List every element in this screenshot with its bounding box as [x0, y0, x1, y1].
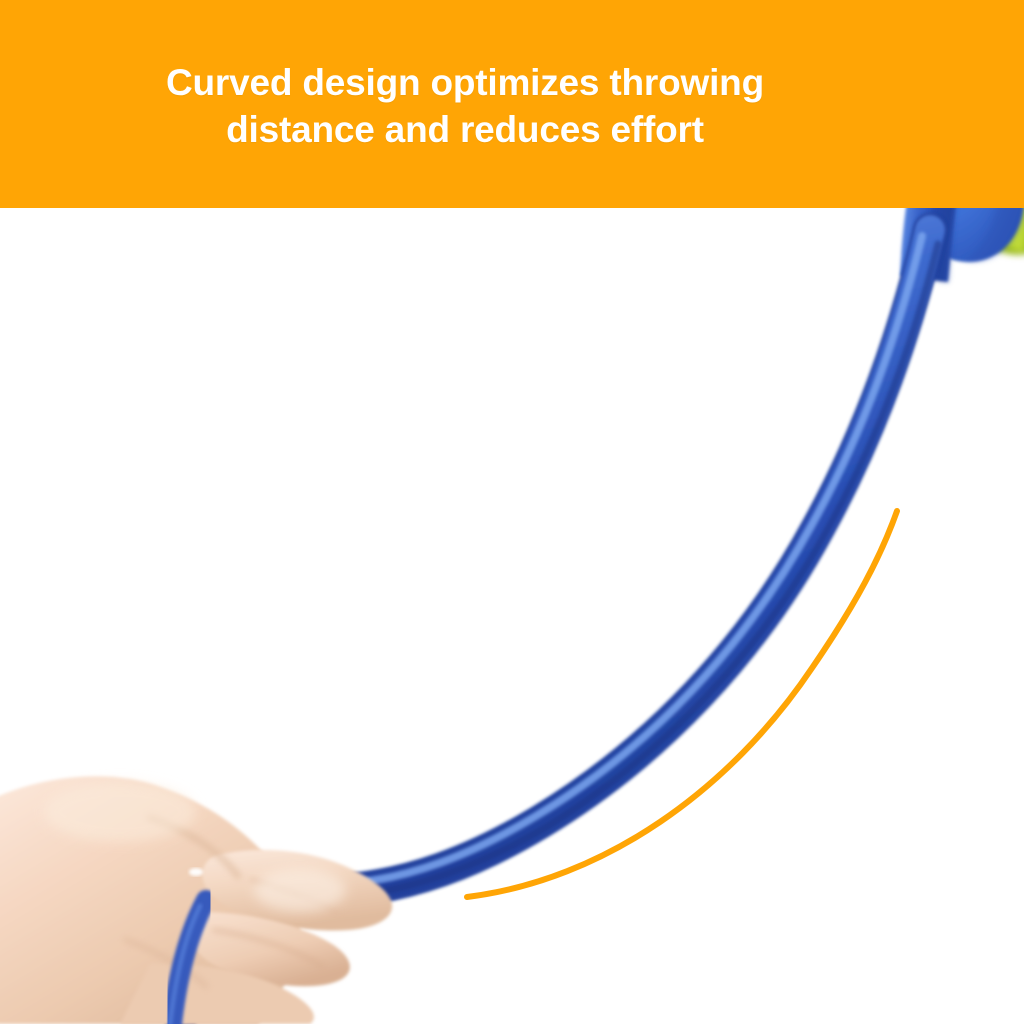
headline-line-1: Curved design optimizes throwing	[166, 59, 764, 106]
headline-text-block: Curved design optimizes throwing distanc…	[0, 0, 930, 208]
headline-line-2: distance and reduces effort	[226, 106, 704, 153]
product-feature-card: Curved design optimizes throwing distanc…	[0, 0, 1024, 1024]
headline-banner: Curved design optimizes throwing distanc…	[0, 0, 1024, 208]
